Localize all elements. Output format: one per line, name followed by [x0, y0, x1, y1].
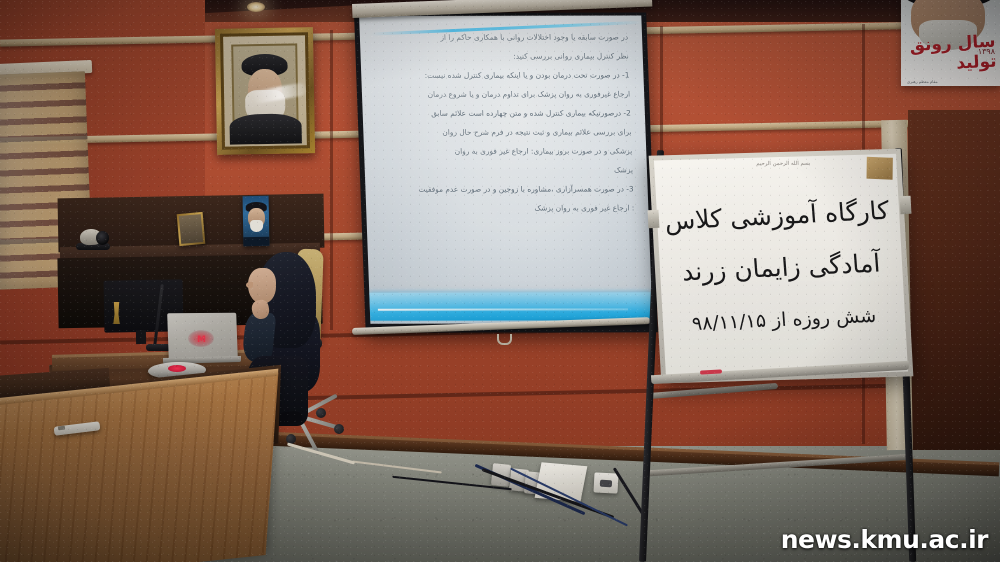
laptop-brand-logo: M	[197, 335, 206, 345]
slide-text-line: پزشک	[379, 164, 634, 177]
slide-text-line: 3- در صورت همسرآزاری ،مشاوره با زوجین و …	[379, 183, 634, 196]
wall-panel-seam	[330, 30, 333, 330]
chair-caster	[334, 424, 344, 434]
monitor-stand	[136, 330, 146, 344]
slide-text-line: 2- درصورتیکه بیماری کنترل شده و متن چهار…	[376, 107, 631, 120]
projector-screen: در صورت سابقه یا وجود اختلالات روانی با …	[354, 12, 658, 332]
whiteboard-clip	[648, 210, 660, 229]
wood-grain-texture	[0, 373, 278, 562]
whiteboard-header-text: بسم الله الرحمن الرحیم	[684, 160, 882, 167]
slide-text-line: : ارجاع غیر فوری به روان پزشک	[380, 202, 635, 215]
robe-shape	[229, 113, 302, 144]
framed-portrait	[215, 27, 315, 155]
presentation-slide: در صورت سابقه یا وجود اختلالات روانی با …	[359, 15, 652, 323]
camera-lens-icon	[96, 231, 109, 245]
watermark: news.kmu.ac.ir	[781, 525, 988, 554]
ceiling-downlight-icon	[247, 2, 265, 12]
whiteboard: بسم الله الرحمن الرحیم کارگاه آموزشی کلا…	[649, 149, 914, 384]
small-wall-poster	[243, 196, 270, 246]
speakerphone-led-icon	[168, 365, 186, 372]
wall-socket[interactable]	[593, 472, 618, 493]
wall-poster: ۱۳۹۸ سال رونق تولید مقام معظم رهبری	[901, 0, 1000, 86]
slide-text-line: 1- در صورت تحت درمان بودن و یا اینکه بیم…	[375, 69, 630, 82]
slide-footer-band	[369, 292, 652, 320]
whiteboard-line-1: کارگاه آموزشی کلاس	[666, 196, 890, 236]
right-wall-dark	[908, 110, 1000, 450]
photograph-scene: ۱۳۹۸ سال رونق تولید مقام معظم رهبری در ص…	[0, 0, 1000, 562]
whiteboard-line-2: آمادگی زایمان زرند	[669, 248, 893, 287]
foreground-table	[0, 373, 278, 562]
slide-text-line: پزشکی و در صورت بروز بیماری: ارجاع غیر ف…	[378, 145, 633, 158]
beard-shape	[250, 220, 263, 232]
socket-holes-icon	[600, 480, 612, 488]
projector-screen-hook	[497, 334, 512, 345]
small-framed-picture	[177, 212, 206, 246]
poster-slogan: سال رونق تولید	[901, 32, 997, 77]
slide-text-line: نظر کنترل بیماری روانی بررسی کنید:	[374, 50, 629, 63]
whiteboard-line-3: شش روزه از ۹۸/۱۱/۱۵	[672, 304, 895, 336]
whiteboard-clip	[900, 196, 912, 215]
slide-text-line: برای بررسی علائم بیماری و ثبت نتیجه در ف…	[377, 126, 632, 139]
remote-button[interactable]	[58, 426, 65, 431]
slide-text-line: ارجاع غیرفوری به روان پزشک برای تداوم در…	[376, 88, 631, 101]
presenter-nose	[246, 282, 253, 288]
poster-footer: مقام معظم رهبری	[907, 79, 938, 84]
